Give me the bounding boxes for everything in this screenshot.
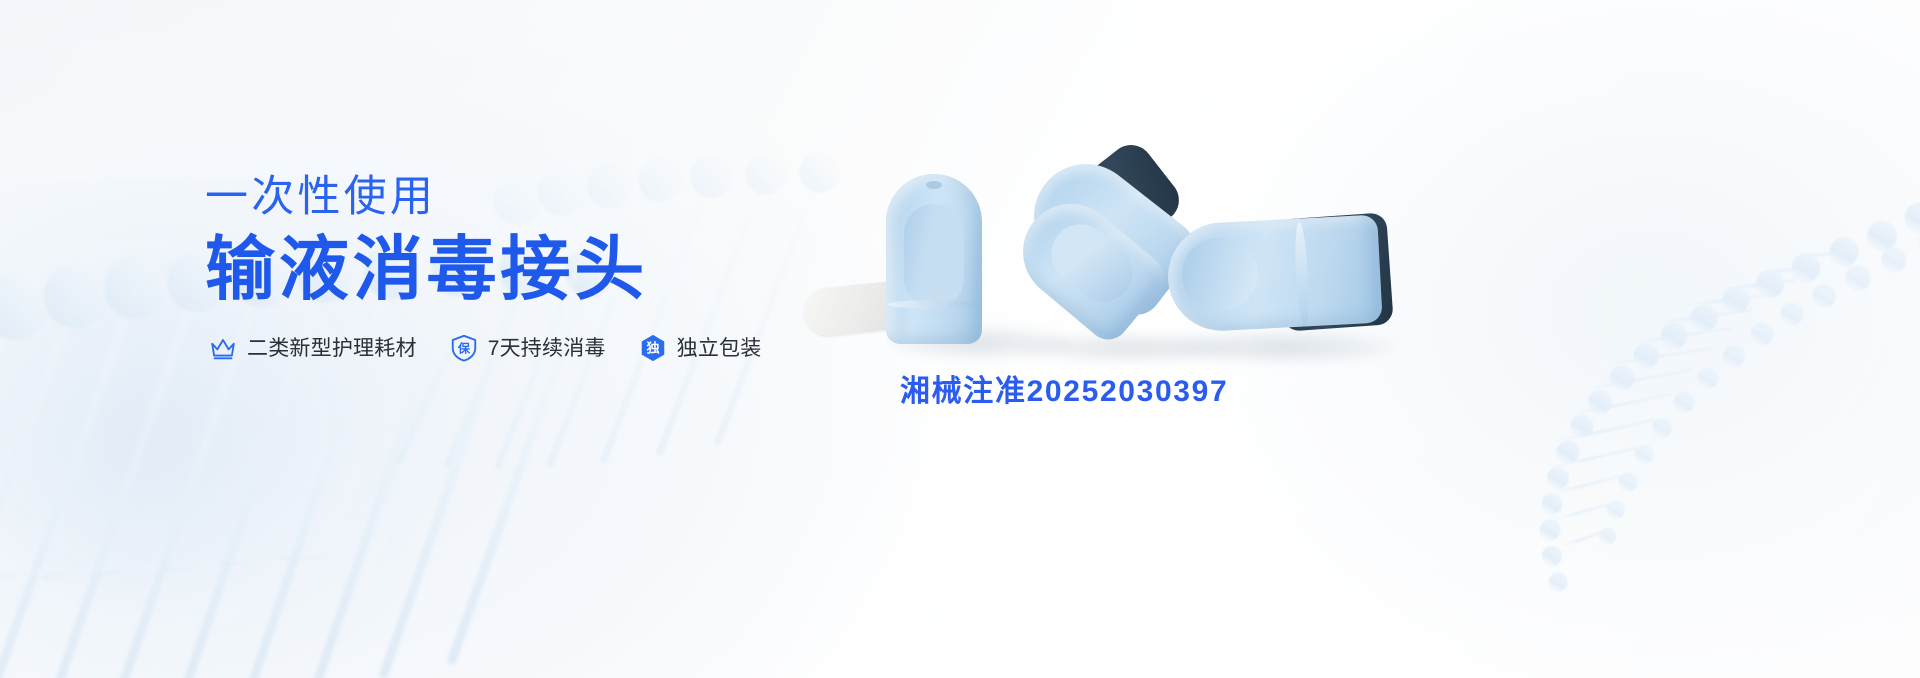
product-image — [790, 150, 1410, 380]
feature-badge-nursing-consumable: 二类新型护理耗材 — [208, 333, 417, 363]
shield-bao-icon: 保 — [449, 333, 479, 363]
feature-badge-independent-packaging: 独 独立包装 — [638, 333, 762, 363]
svg-text:独: 独 — [646, 340, 659, 356]
dna-double-helix-pattern-icon — [1440, 90, 1920, 650]
crown-icon — [208, 333, 238, 363]
eyebrow-text: 一次性使用 — [205, 176, 845, 219]
cap-inner-ring — [904, 204, 964, 308]
feature-badge-list: 二类新型护理耗材 保 7天持续消毒 独 独立包装 — [208, 333, 761, 363]
product-hero-banner: 一次性使用 输液消毒接头 二类新型护理耗材 保 7天持续消毒 独 独立包装 — [0, 0, 1920, 678]
feature-label: 独立包装 — [677, 338, 762, 359]
registration-number: 湘械注准20252030397 — [900, 366, 1228, 410]
page-title: 输液消毒接头 — [205, 234, 845, 304]
feature-label: 二类新型护理耗材 — [247, 338, 417, 359]
cap-inner-ring — [1182, 238, 1258, 310]
svg-text:保: 保 — [457, 341, 471, 356]
cap-top-notch — [926, 181, 942, 189]
cap-lying-right — [1168, 208, 1394, 340]
cap-upright-with-pull-tab — [886, 174, 982, 344]
feature-label: 7天持续消毒 — [488, 338, 606, 359]
headline-block: 一次性使用 输液消毒接头 — [205, 176, 845, 304]
cap-seam — [888, 300, 980, 309]
feature-badge-7day-disinfection: 保 7天持续消毒 — [449, 333, 606, 363]
hexagon-du-icon: 独 — [638, 333, 668, 363]
